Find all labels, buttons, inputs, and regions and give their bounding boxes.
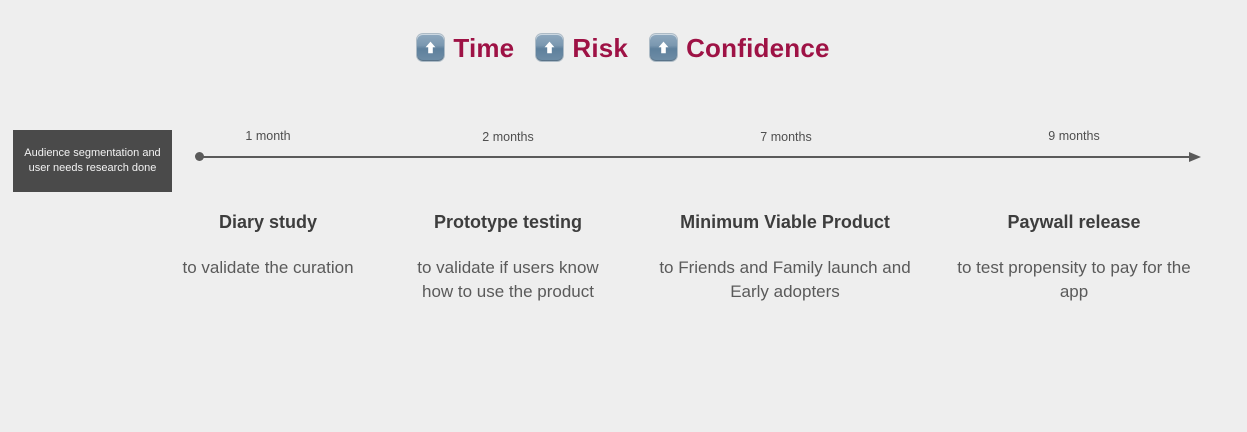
phase-description: to validate the curation [168,256,368,280]
legend-bar: Time Risk Confidence [0,34,1247,61]
phase-title: Minimum Viable Product [655,212,915,234]
start-milestone-text: Audience segmentation and user needs res… [21,146,164,175]
arrow-up-icon [536,34,563,61]
timeline-line [199,156,1197,158]
timeline-tick-label: 7 months [760,131,811,144]
timeline-axis [195,150,1201,166]
legend-label-risk: Risk [572,35,628,61]
timeline-arrowhead-icon [1189,152,1201,162]
legend-label-time: Time [453,35,514,61]
phase-column-paywall-release: Paywall release to test propensity to pa… [952,212,1197,304]
phase-description: to Friends and Family launch and Early a… [655,256,915,304]
phase-description: to test propensity to pay for the app [952,256,1197,304]
phase-title: Paywall release [952,212,1197,234]
phase-title: Prototype testing [401,212,616,234]
phase-column-minimum-viable-product: Minimum Viable Product to Friends and Fa… [655,212,915,304]
legend-item-confidence: Confidence [650,34,830,61]
phase-description: to validate if users know how to use the… [401,256,616,304]
timeline-tick-label: 1 month [245,130,290,143]
phase-column-diary-study: Diary study to validate the curation [168,212,368,280]
start-milestone-box: Audience segmentation and user needs res… [13,130,172,192]
timeline-tick-label: 9 months [1048,130,1099,143]
arrow-up-icon [650,34,677,61]
legend-label-confidence: Confidence [686,35,830,61]
phase-title: Diary study [168,212,368,234]
timeline-tick-label: 2 months [482,131,533,144]
legend-item-risk: Risk [536,34,628,61]
arrow-up-icon [417,34,444,61]
phase-column-prototype-testing: Prototype testing to validate if users k… [401,212,616,304]
legend-item-time: Time [417,34,514,61]
